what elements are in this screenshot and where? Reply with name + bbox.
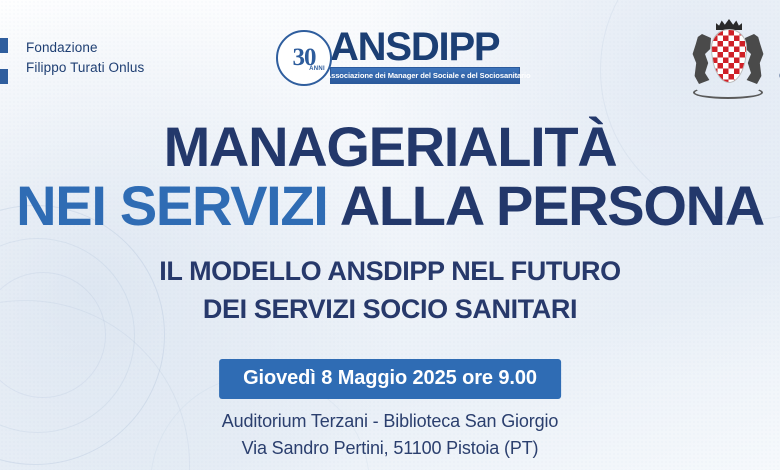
pistoia-coat-of-arms-icon [685, 18, 771, 104]
badge-label: ANNI [309, 66, 325, 72]
event-venue: Auditorium Terzani - Biblioteca San Gior… [0, 408, 780, 461]
venue-line-1: Auditorium Terzani - Biblioteca San Gior… [0, 408, 780, 435]
ansdipp-logo: 30 ANNI ANSDIPP L'Associazione dei Manag… [272, 28, 524, 90]
ansdipp-30-anni-badge-icon: 30 ANNI [276, 30, 332, 86]
fondazione-turati-logo: Fondazione Filippo Turati Onlus [0, 38, 144, 86]
subtitle-line-2: DEI SERVIZI SOCIO SANITARI [0, 290, 780, 328]
poster-header: Fondazione Filippo Turati Onlus 30 ANNI … [0, 0, 780, 110]
fondazione-line-1: Fondazione [26, 40, 98, 55]
fondazione-line-2: Filippo Turati Onlus [26, 60, 144, 75]
event-poster: Fondazione Filippo Turati Onlus 30 ANNI … [0, 0, 780, 470]
headline-line-2: NEI SERVIZI ALLA PERSONA [0, 177, 780, 234]
fondazione-logo-text: Fondazione Filippo Turati Onlus [26, 38, 144, 79]
subtitle-line-1: IL MODELLO ANSDIPP NEL FUTURO [0, 252, 780, 290]
headline-accent-text: NEI SERVIZI [16, 174, 327, 237]
ansdipp-wordmark: ANSDIPP [330, 27, 499, 67]
venue-line-2: Via Sandro Pertini, 51100 Pistoia (PT) [0, 435, 780, 462]
poster-headline: MANAGERIALITÀ NEI SERVIZI ALLA PERSONA [0, 118, 780, 234]
fondazione-square-marks-icon [0, 38, 22, 86]
comune-di-pistoia-logo: C di [685, 18, 780, 104]
headline-rest-text: ALLA PERSONA [328, 174, 764, 237]
headline-line-1: MANAGERIALITÀ [0, 118, 780, 175]
poster-subtitle: IL MODELLO ANSDIPP NEL FUTURO DEI SERVIZ… [0, 252, 780, 329]
ansdipp-tagline: L'Associazione dei Manager del Sociale e… [330, 67, 520, 84]
event-date-banner: Giovedì 8 Maggio 2025 ore 9.00 [219, 359, 561, 399]
